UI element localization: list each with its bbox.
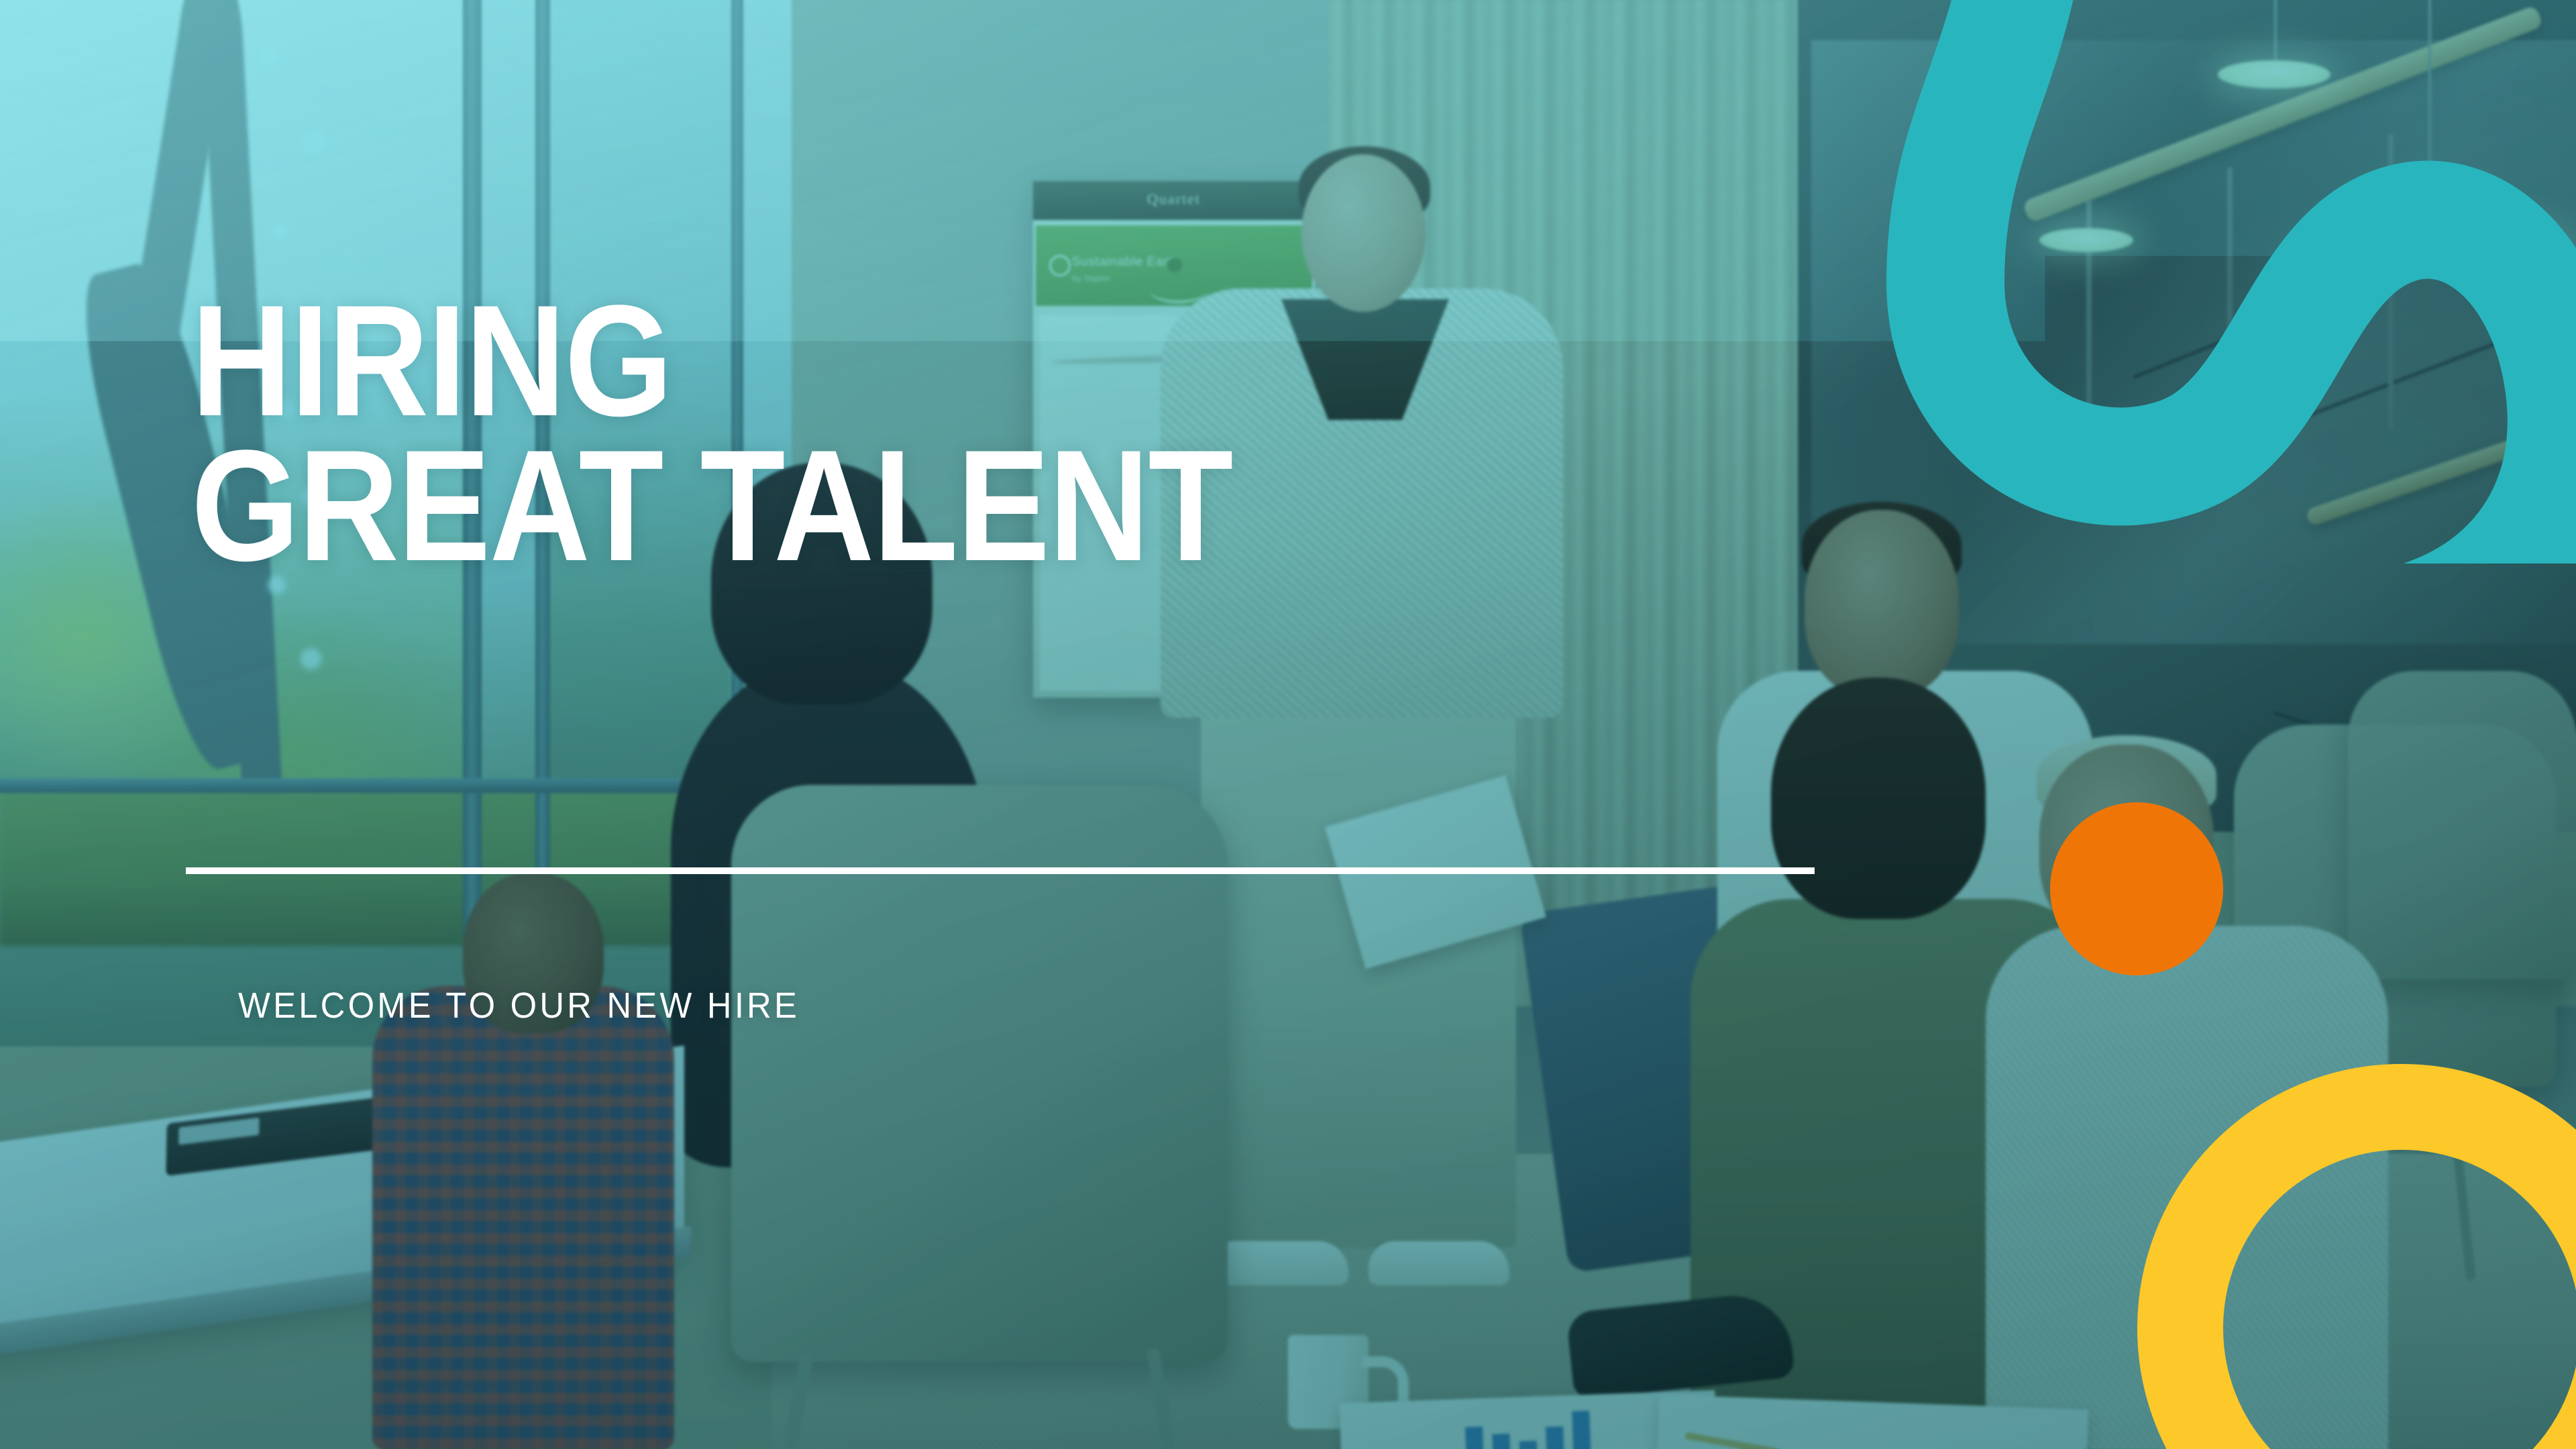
subtitle: WELCOME TO OUR NEW HIRE: [238, 985, 800, 1026]
hiring-poster: Quartet Sustainable Earth By Staples: [0, 0, 2576, 1449]
headline-line-1: HIRING: [191, 288, 1785, 433]
headline-divider-rule: [186, 867, 1815, 874]
page-title: HIRING GREAT TALENT: [191, 288, 1785, 578]
headline-block: HIRING GREAT TALENT WELCOME TO OUR NEW H…: [191, 288, 2002, 578]
duotone-overlay-tint: [0, 0, 2576, 1449]
headline-line-2: GREAT TALENT: [191, 433, 1785, 578]
